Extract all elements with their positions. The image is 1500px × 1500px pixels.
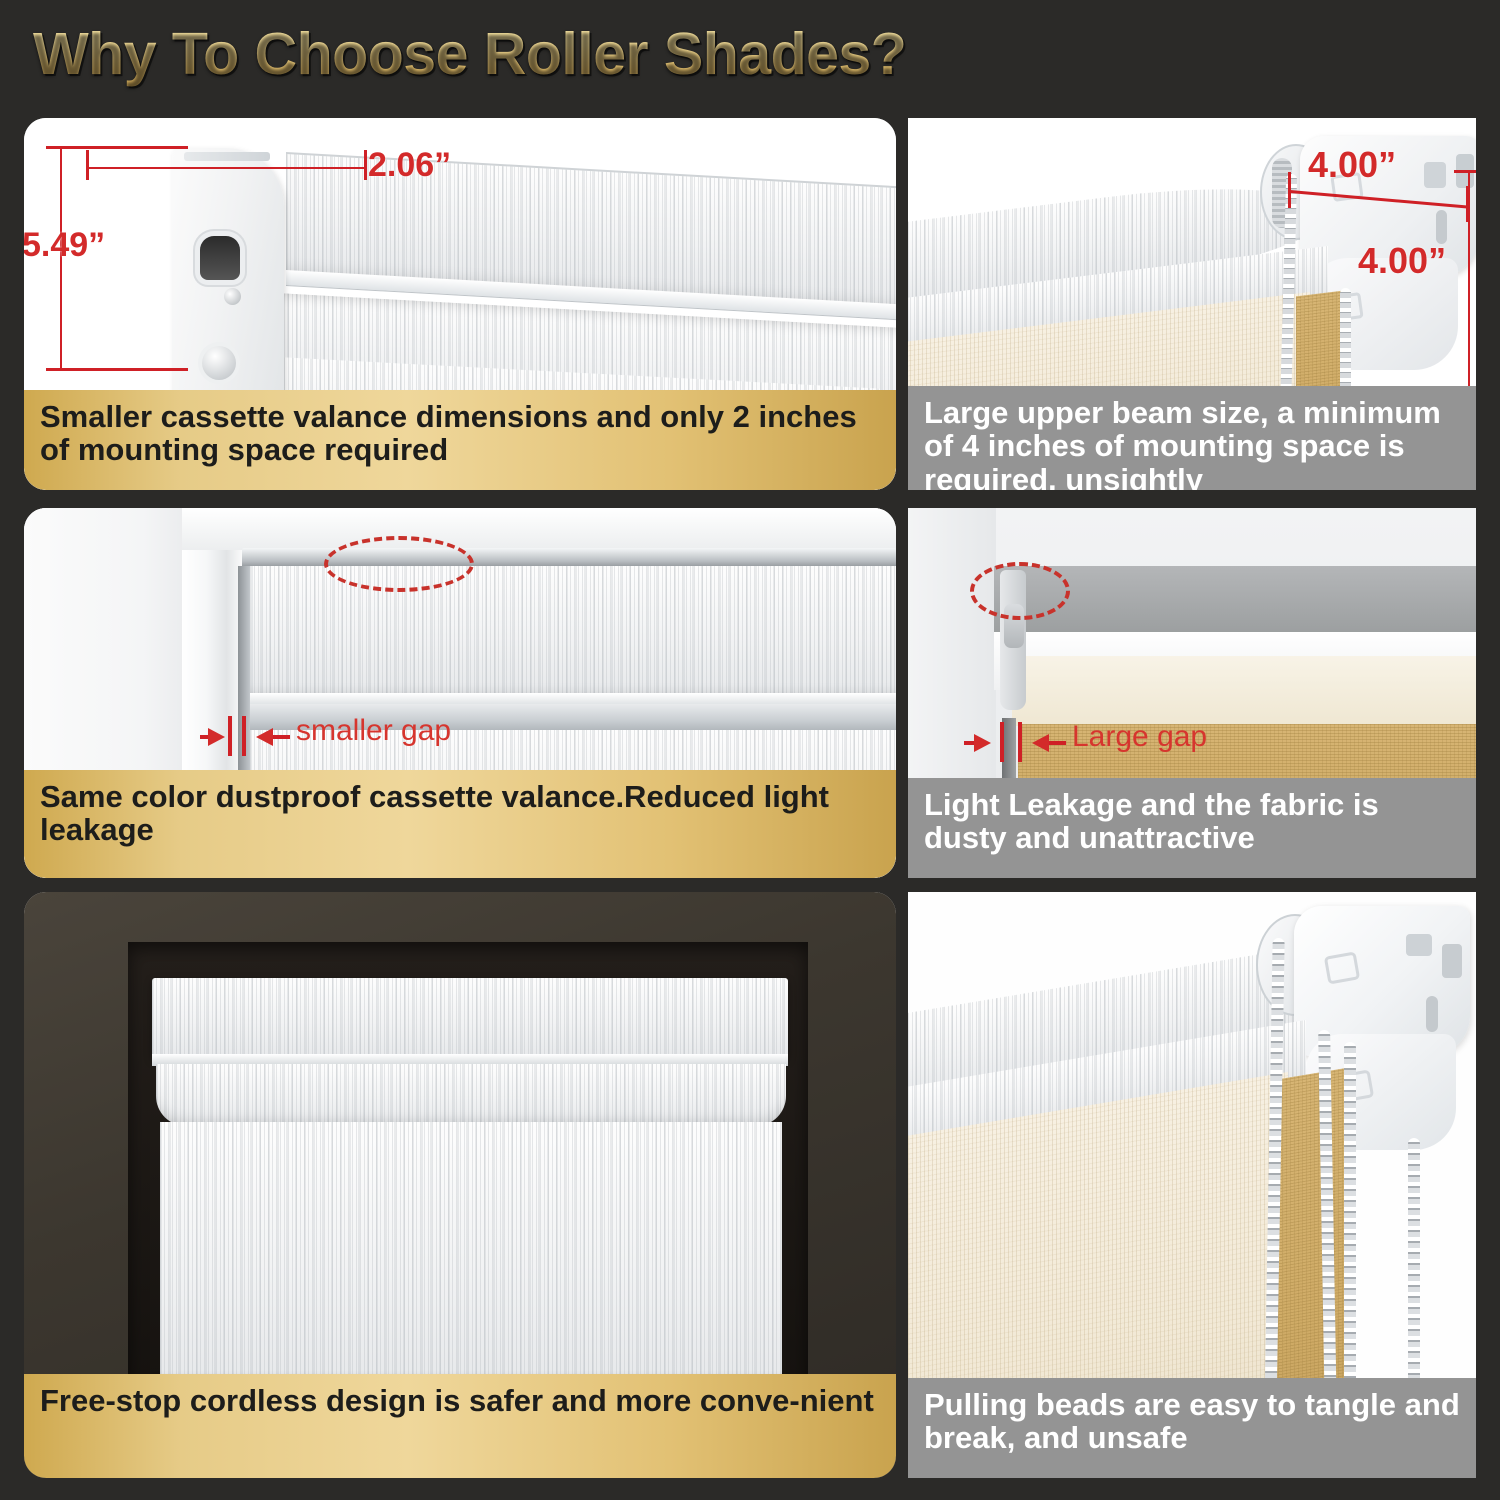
gap-label: Large gap [1072,720,1207,754]
bracket-slot-upper [1426,996,1438,1032]
roller-drum [156,1064,786,1126]
gap-arrow-left [208,728,225,746]
gap-arrow-right-stem [1048,741,1066,745]
dimension-tick-right [364,150,367,180]
dimension-label-height: 5.49” [24,226,105,265]
bracket-notch-a [1424,162,1446,188]
highlight-ellipse [970,562,1070,620]
dimension-label-depth: 2.06” [368,146,451,185]
dimension-tick-left [86,150,89,180]
end-cap-tab [184,152,270,161]
panel-caption: Free-stop cordless design is safer and m… [24,1374,896,1478]
gap-tick-left [1000,722,1004,762]
panel-caption-text: Light Leakage and the fabric is dusty an… [908,778,1476,867]
panel-cordless-design: Free-stop cordless design is safer and m… [24,892,896,1478]
beam-width-tick-left [1288,172,1291,208]
gap-arrow-right-stem [272,735,290,739]
panel-caption: Light Leakage and the fabric is dusty an… [908,778,1476,878]
panel-caption: Same color dustproof cassette valance.Re… [24,770,896,878]
panel-caption-text: Same color dustproof cassette valance.Re… [24,770,896,859]
panel-light-leakage: Large gap Light Leakage and the fabric i… [908,508,1476,878]
end-cap-screw-lower [202,346,236,380]
panel-caption-text: Smaller cassette valance dimensions and … [24,390,896,479]
end-cap-screw-upper [224,288,241,305]
dimension-tick-top [46,146,188,149]
panel-smaller-cassette: 5.49” 2.06” Smaller cassette valance dim… [24,118,896,490]
gap-arrow-right [1032,734,1049,752]
panel-caption: Pulling beads are easy to tangle and bre… [908,1378,1476,1478]
end-cap-slot [200,236,240,280]
panel-caption: Smaller cassette valance dimensions and … [24,390,896,490]
panel-caption: Large upper beam size, a minimum of 4 in… [908,386,1476,490]
valance-end-cap [172,148,284,420]
beam-height-tick-top [1454,170,1476,173]
gap-label: smaller gap [296,714,451,748]
panel-large-upper-beam: 4.00” 4.00” Large upper beam size, a min… [908,118,1476,490]
panel-dustproof-valance: smaller gap Same color dustproof cassett… [24,508,896,878]
cream-fabric-band [1012,656,1476,726]
casing-top-rail [182,508,896,550]
bracket-notch-upper-a [1406,934,1432,956]
dimension-tick-bottom [46,368,188,371]
gap-tick-right [1018,722,1022,762]
panel-caption-text: Free-stop cordless design is safer and m… [24,1374,890,1429]
panel-caption-text: Large upper beam size, a minimum of 4 in… [908,386,1476,490]
beam-height-label: 4.00” [1358,240,1446,282]
gap-tick-left [228,716,232,756]
panel-pulling-beads: Pulling beads are easy to tangle and bre… [908,892,1476,1478]
bracket-icon-upper [1324,951,1360,984]
panel-caption-text: Pulling beads are easy to tangle and bre… [908,1378,1476,1467]
bracket-slot [1436,210,1447,244]
gap-arrow-right [256,728,273,746]
valance-front [242,566,896,696]
comparison-grid: 5.49” 2.06” Smaller cassette valance dim… [0,0,1500,1500]
highlight-ellipse [324,536,474,592]
shade-fabric [160,1122,782,1380]
dimension-line-horizontal [86,167,366,169]
bracket-notch-upper-b [1442,944,1462,978]
beam-width-label: 4.00” [1308,144,1396,186]
gap-arrow-left [974,734,991,752]
gap-tick-right [242,716,246,756]
valance-head [152,978,788,1058]
